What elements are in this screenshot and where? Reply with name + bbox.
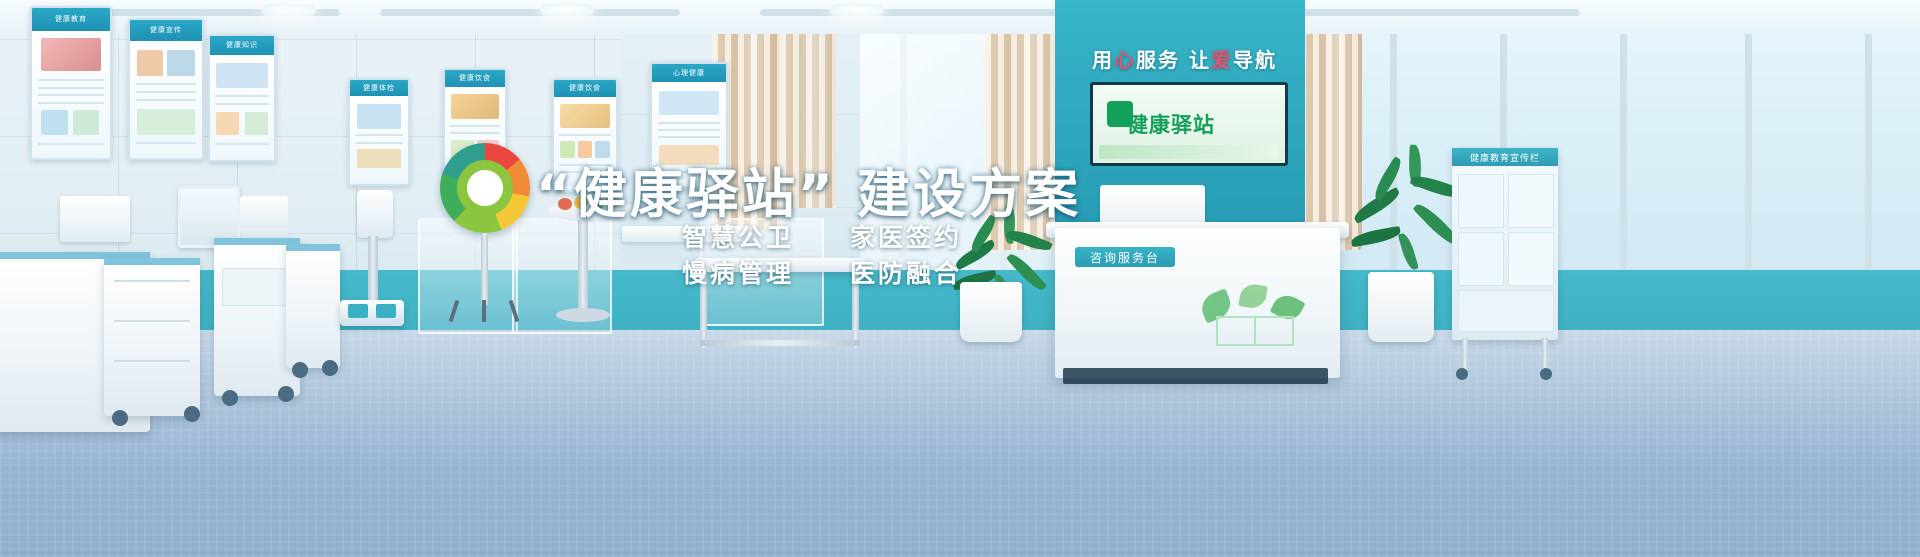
screen-content: 健康驿站 — [1093, 85, 1285, 163]
desk-leaf-graphic — [1202, 282, 1322, 352]
slogan-part-3: 导航 — [1233, 48, 1277, 72]
rack-caster — [1456, 368, 1468, 380]
heart-icon-2: 爱 — [1211, 48, 1233, 72]
cart-caster — [184, 406, 200, 422]
analyzer-head — [357, 190, 393, 238]
poster-body — [350, 96, 408, 184]
equipment-cart-3 — [286, 244, 340, 368]
slogan-part-2: 服务 让 — [1136, 48, 1211, 72]
kiosk-monitor-3 — [240, 196, 288, 238]
nutrition-wheel-chart — [440, 143, 530, 233]
ceiling-slot — [380, 9, 680, 16]
rack-caster — [1540, 368, 1552, 380]
health-education-rack: 健康教育宣传栏 — [1452, 148, 1558, 340]
wall-poster: 健康体检 — [348, 78, 410, 186]
reception-desk-sign: 咨询服务台 — [1075, 247, 1175, 267]
scale-pad-right — [376, 304, 396, 318]
kiosk-monitor-1 — [60, 196, 130, 242]
rack-leg — [1462, 338, 1468, 372]
poster-header: 健康知识 — [210, 36, 274, 55]
plant-pot — [1368, 272, 1434, 342]
round-table-base — [556, 308, 610, 322]
poster-header: 健康体检 — [350, 80, 408, 96]
rack-banner: 健康教育宣传栏 — [1452, 148, 1558, 166]
rack-leg — [1542, 338, 1548, 372]
heart-icon: 心 — [1114, 48, 1136, 72]
ceiling-slot — [760, 9, 1100, 16]
reception-slogan: 用心服务 让爱导航 — [1082, 44, 1287, 73]
ceiling — [0, 0, 1920, 34]
analyzer-pole — [368, 236, 378, 300]
wheel-stand-pole — [481, 233, 488, 305]
subtitle-smart-public-health: 智慧公卫 — [682, 218, 794, 254]
poster-body — [130, 41, 202, 158]
tripod-legs — [452, 300, 518, 322]
subtitle-family-doctor: 家医签约 — [850, 218, 962, 254]
wall-poster: 健康教育 — [30, 6, 112, 160]
cart-caster — [292, 362, 308, 378]
poster-header: 健康教育 — [32, 8, 110, 31]
poster-body — [210, 55, 274, 160]
slogan-part-1: 用 — [1092, 48, 1114, 72]
reception-display-screen: 健康驿站 — [1090, 82, 1288, 166]
clinic-scene-image: 健康教育 健康宣传 健康知识 健康体 — [0, 0, 1920, 557]
poster-body — [32, 31, 110, 159]
cart-caster — [278, 386, 294, 402]
poster-header: 健康饮食 — [445, 70, 505, 87]
plant-foliage — [1348, 150, 1468, 290]
ceiling-light — [540, 4, 594, 16]
desk-base-shadow — [1063, 368, 1328, 384]
poster-header: 健康宣传 — [130, 20, 202, 41]
table-crossbar — [700, 340, 860, 346]
page-title: “健康驿站” 建设方案 — [536, 152, 1081, 228]
poster-header: 健康饮食 — [554, 80, 616, 97]
ceiling-light — [830, 4, 884, 16]
subtitle-chronic-disease: 慢病管理 — [682, 254, 794, 290]
wall-poster: 健康知识 — [208, 34, 276, 162]
screen-title: 健康驿站 — [1127, 109, 1285, 139]
round-table-pole — [578, 220, 588, 310]
scale-pad-left — [348, 304, 368, 318]
plant-pot — [960, 282, 1022, 342]
cart-caster — [112, 410, 128, 426]
cart-caster — [222, 390, 238, 406]
ceiling-light — [262, 4, 316, 16]
wall-poster: 健康宣传 — [128, 18, 204, 160]
screen-footer-bar — [1099, 145, 1279, 159]
poster-header: 心理健康 — [652, 64, 726, 82]
equipment-cart-1 — [104, 258, 200, 416]
subtitle-med-prevention: 医防融合 — [850, 254, 962, 290]
cart-caster — [322, 360, 338, 376]
